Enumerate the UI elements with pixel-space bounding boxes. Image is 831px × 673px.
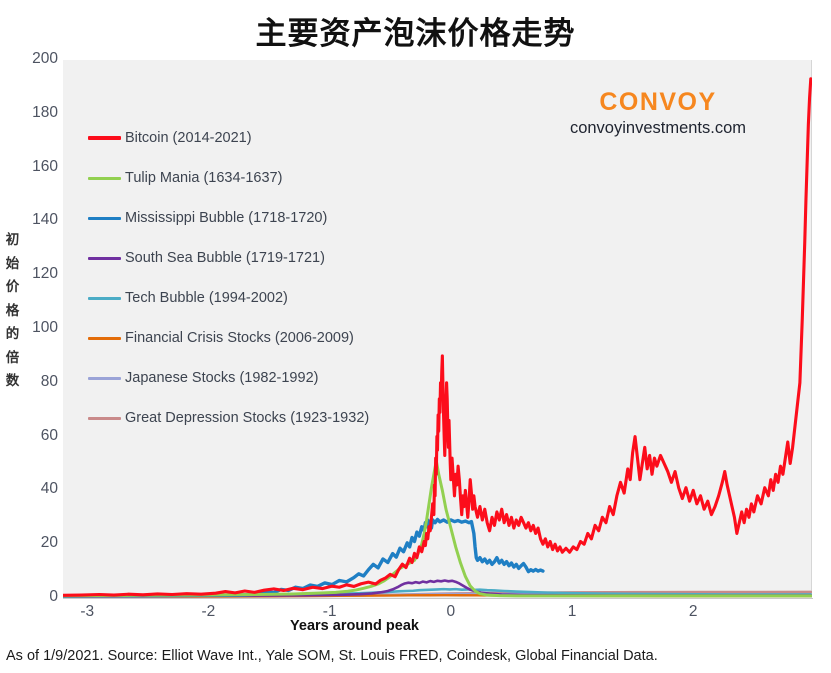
legend-item[interactable]: Mississippi Bubble (1718-1720) (88, 198, 418, 238)
y-axis-title-char: 始 (4, 252, 21, 276)
page-title: 主要资产泡沫价格走势 (0, 8, 831, 53)
legend-color-swatch (88, 377, 121, 380)
legend-color-swatch (88, 257, 121, 260)
y-axis-title-char: 数 (4, 369, 21, 393)
legend-color-swatch (88, 417, 121, 420)
y-axis-tick: 40 (12, 480, 58, 498)
legend-item[interactable]: Bitcoin (2014-2021) (88, 118, 418, 158)
bubble-chart-figure: 主要资产泡沫价格走势 020406080100120140160180200 初… (0, 0, 831, 673)
y-axis-title-char: 的 (4, 322, 21, 346)
legend-item-label: Bitcoin (2014-2021) (125, 130, 252, 146)
y-axis-tick: 200 (12, 50, 58, 68)
legend-item[interactable]: Tulip Mania (1634-1637) (88, 158, 418, 198)
x-axis-title: Years around peak (0, 618, 831, 634)
legend-color-swatch (88, 177, 121, 180)
y-axis-tick: 20 (12, 534, 58, 552)
brand-url: convoyinvestments.com (538, 119, 778, 138)
brand-name: CONVOY (538, 88, 778, 117)
brand-block: CONVOY convoyinvestments.com (538, 88, 778, 138)
legend-item-label: South Sea Bubble (1719-1721) (125, 250, 325, 266)
series-line (63, 461, 811, 596)
y-axis-title-char: 格 (4, 299, 21, 323)
legend-item[interactable]: Financial Crisis Stocks (2006-2009) (88, 318, 418, 358)
legend-color-swatch (88, 217, 121, 220)
x-axis-title-text: Years around peak (290, 618, 419, 634)
y-axis-title-char: 价 (4, 275, 21, 299)
legend: Bitcoin (2014-2021)Tulip Mania (1634-163… (88, 118, 418, 438)
legend-item-label: Great Depression Stocks (1923-1932) (125, 410, 369, 426)
y-axis-title-char: 初 (4, 228, 21, 252)
y-axis-tick: 60 (12, 427, 58, 445)
legend-item[interactable]: Japanese Stocks (1982-1992) (88, 358, 418, 398)
legend-item-label: Financial Crisis Stocks (2006-2009) (125, 330, 354, 346)
legend-color-swatch (88, 136, 121, 140)
y-axis-title-char: 倍 (4, 346, 21, 370)
legend-item-label: Japanese Stocks (1982-1992) (125, 370, 318, 386)
legend-color-swatch (88, 297, 121, 300)
legend-item-label: Tech Bubble (1994-2002) (125, 290, 288, 306)
legend-item[interactable]: Tech Bubble (1994-2002) (88, 278, 418, 318)
y-axis-title: 初始价格的倍数 (4, 228, 21, 393)
legend-item-label: Tulip Mania (1634-1637) (125, 170, 282, 186)
source-footnote: As of 1/9/2021. Source: Elliot Wave Int.… (6, 648, 658, 664)
legend-item[interactable]: South Sea Bubble (1719-1721) (88, 238, 418, 278)
x-axis-line (63, 598, 813, 599)
legend-color-swatch (88, 337, 121, 340)
legend-item[interactable]: Great Depression Stocks (1923-1932) (88, 398, 418, 438)
y-axis-tick: 140 (12, 211, 58, 229)
y-axis-tick: 180 (12, 104, 58, 122)
legend-item-label: Mississippi Bubble (1718-1720) (125, 210, 327, 226)
y-axis-tick: 160 (12, 158, 58, 176)
